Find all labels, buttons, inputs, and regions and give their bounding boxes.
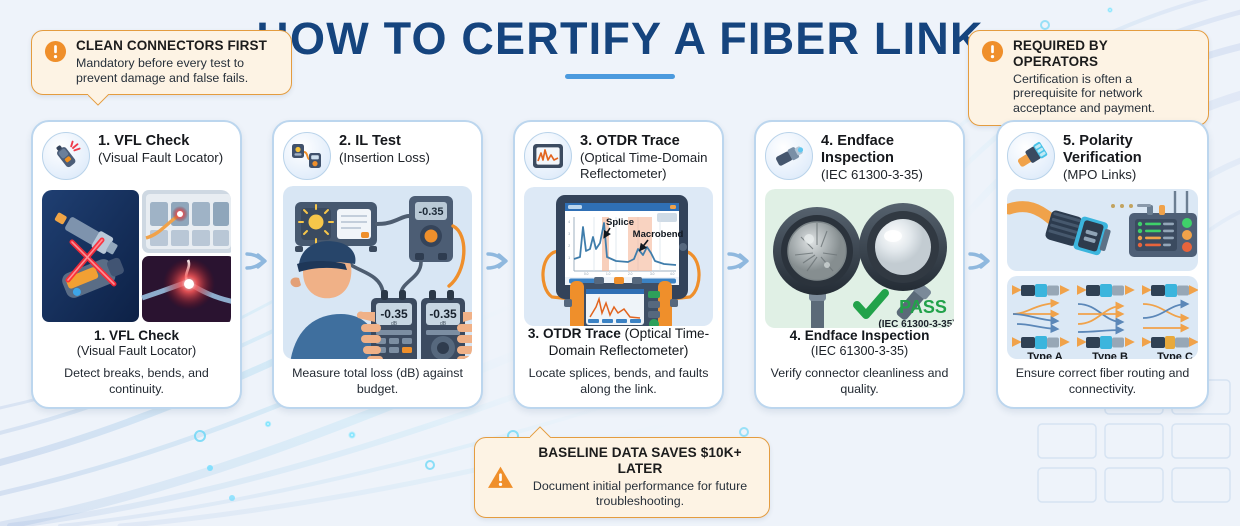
next-step-arrow xyxy=(484,248,510,274)
light-source-power-meter-icon xyxy=(289,141,325,171)
otdr-label-macrobend: Macrobend xyxy=(633,229,684,240)
svg-text:0.0: 0.0 xyxy=(584,272,589,276)
callout-clean-connectors: CLEAN CONNECTORS FIRST Mandatory before … xyxy=(31,30,292,95)
card-head-title: 1. VFL Check xyxy=(98,133,223,150)
callout-title: REQUIRED BY OPERATORS xyxy=(1013,38,1196,70)
callout-required-by-operators: REQUIRED BY OPERATORS Certification is o… xyxy=(968,30,1209,126)
callout-title: BASELINE DATA SAVES $10K+ LATER xyxy=(523,445,757,477)
step-card-il-test[interactable]: 2. IL Test (Insertion Loss) xyxy=(272,120,483,409)
polarity-type-a-label: Type A xyxy=(1027,351,1063,359)
svg-text:dB: dB xyxy=(440,321,447,327)
card-foot-subtitle: (IEC 61300-3-35) xyxy=(767,344,952,359)
card-head-subtitle: (Optical Time-Domain Reflectometer) xyxy=(580,150,713,181)
polarity-verification-illustration xyxy=(1007,189,1198,272)
card-foot-subtitle: (Visual Fault Locator) xyxy=(44,344,229,359)
vfl-pen-icon xyxy=(49,139,83,173)
il-test-illustration: -0.35 xyxy=(283,186,472,359)
card-head-subtitle: (IEC 61300-3-35) xyxy=(821,167,954,182)
card-header: 2. IL Test (Insertion Loss) xyxy=(283,132,472,180)
card-footer: Measure total loss (dB) against budget. xyxy=(283,359,472,399)
card-head-title: 3. OTDR Trace xyxy=(580,133,713,150)
svg-text:3: 3 xyxy=(568,232,570,236)
card-header: 4. Endface Inspection (IEC 61300-3-35) xyxy=(765,132,954,183)
step-icon-badge xyxy=(1007,132,1055,180)
callout-body: Mandatory before every test to prevent d… xyxy=(76,56,279,85)
card-head-subtitle: (Visual Fault Locator) xyxy=(98,150,223,165)
svg-text:2: 2 xyxy=(568,244,570,248)
card-header: 5. Polarity Verification (MPO Links) xyxy=(1007,132,1198,183)
title-underline-rule xyxy=(565,74,675,79)
callout-tail xyxy=(88,94,110,108)
endface-inspection-illustration: PASS (IEC 61300-3-35) xyxy=(765,189,954,328)
card-head-subtitle: (Insertion Loss) xyxy=(339,150,430,165)
next-step-arrow xyxy=(725,248,751,274)
step-icon-badge xyxy=(524,132,572,180)
exclamation-circle-icon xyxy=(44,40,67,63)
card-description: Measure total loss (dB) against budget. xyxy=(285,366,470,397)
iec-standard-label: (IEC 61300-3-35) xyxy=(878,319,954,328)
card-header: 3. OTDR Trace (Optical Time-Domain Refle… xyxy=(524,132,713,181)
pass-label: PASS xyxy=(899,297,947,317)
svg-text:1: 1 xyxy=(568,256,570,260)
callout-body: Document initial performance for future … xyxy=(523,479,757,508)
mpo-connector-icon xyxy=(1014,141,1048,171)
step-card-endface-inspection[interactable]: 4. Endface Inspection (IEC 61300-3-35) xyxy=(754,120,965,409)
step-icon-badge xyxy=(42,132,90,180)
card-footer: 3. OTDR Trace (Optical Time-Domain Refle… xyxy=(524,326,713,399)
card-header: 1. VFL Check (Visual Fault Locator) xyxy=(42,132,231,184)
card-description: Ensure correct fiber routing and connect… xyxy=(1009,366,1196,397)
callout-title: CLEAN CONNECTORS FIRST xyxy=(76,38,279,54)
card-foot-title: 1. VFL Check xyxy=(44,328,229,344)
card-footer: 1. VFL Check (Visual Fault Locator) Dete… xyxy=(42,328,231,399)
step-icon-badge xyxy=(283,132,331,180)
otdr-trace-illustration: 43 21 0.01.02.03.04.0 Splice Macrobend xyxy=(524,187,713,326)
polarity-type-b-label: Type B xyxy=(1092,351,1128,359)
otdr-screen-icon xyxy=(531,141,565,171)
svg-text:4.0: 4.0 xyxy=(670,272,675,276)
card-foot-title: 4. Endface Inspection xyxy=(767,328,952,344)
card-description: Locate splices, bends, and faults along … xyxy=(526,366,711,397)
polarity-types-diagram: Type A Type B Type C xyxy=(1007,276,1198,359)
svg-text:3.0: 3.0 xyxy=(650,272,655,276)
next-step-arrow xyxy=(243,248,269,274)
exclamation-circle-icon xyxy=(981,40,1004,63)
card-footer: 4. Endface Inspection (IEC 61300-3-35) V… xyxy=(765,328,954,399)
card-head-subtitle: (MPO Links) xyxy=(1063,167,1198,182)
card-foot-title: 3. OTDR Trace (Optical Time-Domain Refle… xyxy=(526,326,711,359)
warning-triangle-icon xyxy=(487,465,514,490)
step-card-polarity-verification[interactable]: 5. Polarity Verification (MPO Links) xyxy=(996,120,1209,409)
polarity-type-c-label: Type C xyxy=(1157,351,1193,359)
callout-body: Certification is often a prerequisite fo… xyxy=(1013,72,1196,116)
card-head-title: 2. IL Test xyxy=(339,133,430,150)
step-card-otdr-trace[interactable]: 3. OTDR Trace (Optical Time-Domain Refle… xyxy=(513,120,724,409)
otdr-label-splice: Splice xyxy=(606,217,634,228)
card-head-title: 5. Polarity Verification xyxy=(1063,133,1198,167)
card-head-title: 4. Endface Inspection xyxy=(821,133,954,167)
callout-tail xyxy=(530,424,552,438)
svg-text:-0.35: -0.35 xyxy=(380,307,408,321)
step-card-vfl-check[interactable]: 1. VFL Check (Visual Fault Locator) xyxy=(31,120,242,409)
card-description: Detect breaks, bends, and continuity. xyxy=(44,366,229,397)
svg-text:dB: dB xyxy=(391,321,398,327)
card-footer: Ensure correct fiber routing and connect… xyxy=(1007,359,1198,399)
step-icon-badge xyxy=(765,132,813,180)
vfl-check-illustration xyxy=(42,190,231,327)
svg-text:1.0: 1.0 xyxy=(606,272,611,276)
svg-text:4: 4 xyxy=(568,220,570,224)
card-description: Verify connector cleanliness and quality… xyxy=(767,366,952,397)
infographic-canvas: HOW TO CERTIFY A FIBER LINK CLEAN CONNEC… xyxy=(0,0,1240,526)
fiber-connector-icon xyxy=(772,142,806,170)
svg-text:2.0: 2.0 xyxy=(628,272,633,276)
next-step-arrow xyxy=(966,248,992,274)
card-foot-title-main: 3. OTDR Trace xyxy=(528,326,621,341)
svg-text:-0.35: -0.35 xyxy=(429,307,457,321)
callout-baseline-data: BASELINE DATA SAVES $10K+ LATER Document… xyxy=(474,437,770,518)
svg-text:-0.35: -0.35 xyxy=(418,206,443,218)
